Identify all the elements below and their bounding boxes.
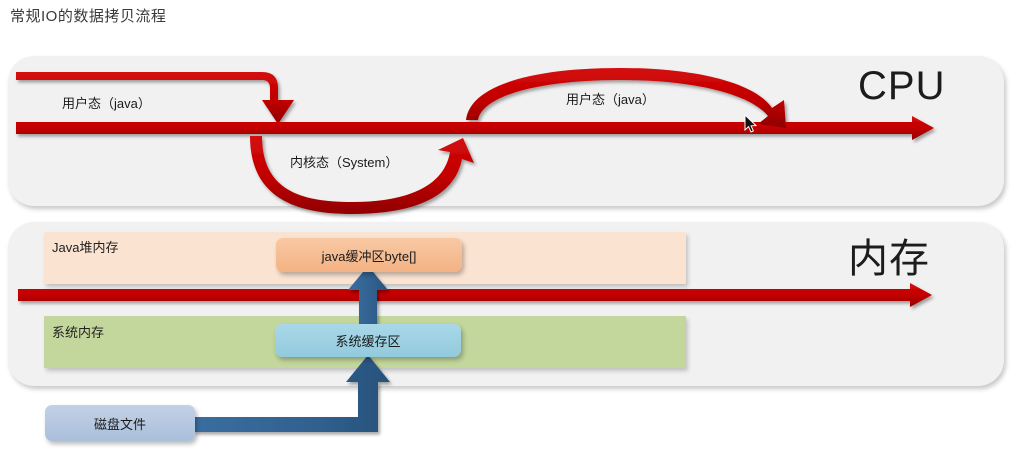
- blue-copy-arrows-layer: [0, 0, 1013, 451]
- java-buffer-box[interactable]: java缓冲区byte[]: [276, 238, 462, 272]
- java-buffer-box-label: java缓冲区byte[]: [322, 246, 417, 265]
- mouse-pointer-icon: [744, 114, 758, 134]
- system-to-java-buffer-arrow-path: [348, 266, 388, 326]
- disk-to-system-buffer-arrow-path: [193, 355, 390, 432]
- disk-file-box-label: 磁盘文件: [94, 414, 146, 433]
- diagram-canvas: 常规IO的数据拷贝流程 CPU 内存 Java堆内存 系统内存: [0, 0, 1013, 451]
- system-buffer-box-label: 系统缓存区: [335, 331, 400, 350]
- system-buffer-box[interactable]: 系统缓存区: [275, 324, 461, 357]
- disk-file-box[interactable]: 磁盘文件: [45, 405, 195, 441]
